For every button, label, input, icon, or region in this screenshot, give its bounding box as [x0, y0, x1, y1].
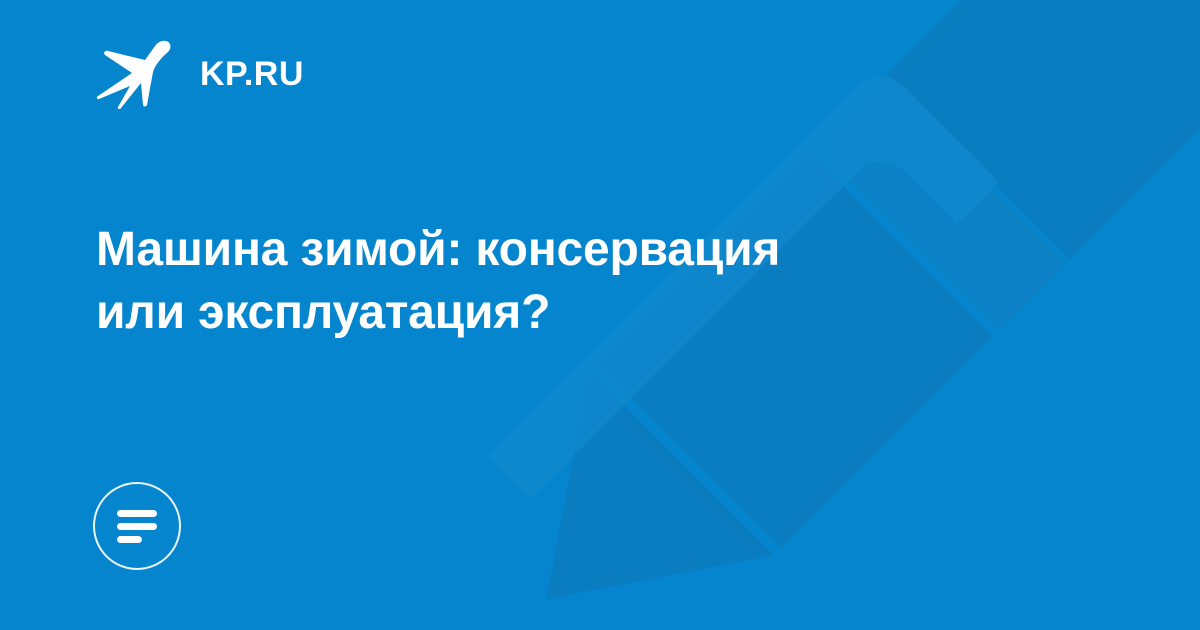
brand-name: KP.RU — [200, 57, 304, 91]
share-card: KP.RU Машина зимой: консервация или эксп… — [0, 0, 1200, 630]
swallow-bird-icon — [96, 39, 174, 109]
brand-logo[interactable]: KP.RU — [96, 38, 304, 110]
menu-button[interactable] — [93, 482, 181, 570]
hamburger-bar-3 — [117, 536, 142, 543]
hamburger-bar-1 — [117, 510, 157, 517]
pen-barrel — [597, 152, 993, 548]
page-title: Машина зимой: консервация или эксплуатац… — [96, 218, 976, 345]
hamburger-bar-2 — [117, 523, 157, 530]
pen-nib — [454, 371, 774, 630]
